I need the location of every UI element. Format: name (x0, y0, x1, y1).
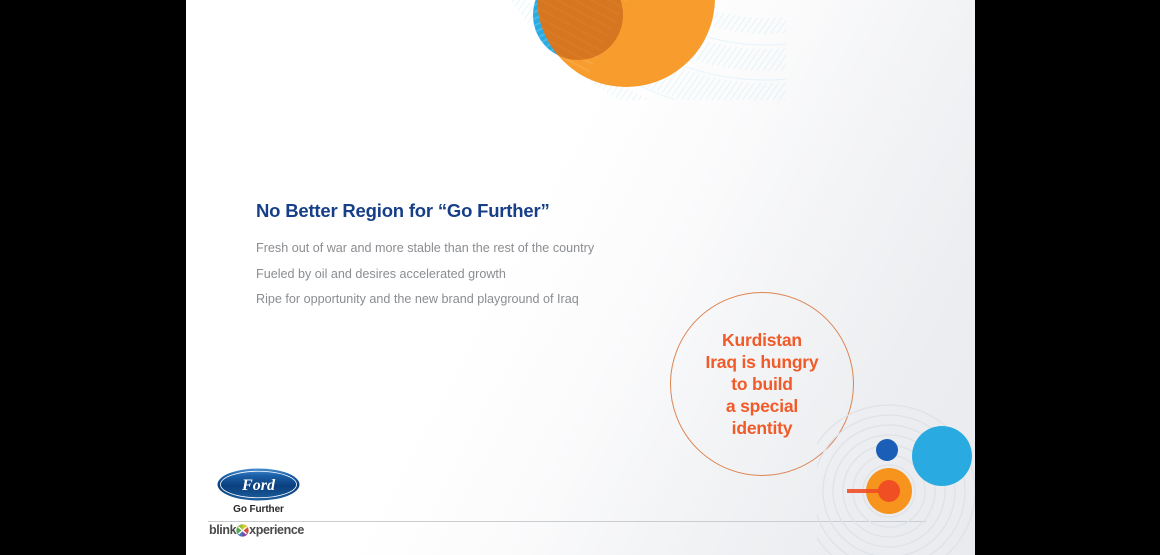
bullet-list: Fresh out of war and more stable than th… (256, 242, 716, 306)
agency-logo: blink xperience (209, 521, 304, 539)
callout-circle: Kurdistan Iraq is hungry to build a spec… (670, 292, 854, 476)
deco-circle-orange (537, 0, 715, 87)
screenshot-stage: No Better Region for “Go Further” Fresh … (0, 0, 1160, 555)
list-item: Ripe for opportunity and the new brand p… (256, 293, 716, 306)
deco-dot-cyan (912, 426, 972, 486)
agency-logo-mark (236, 524, 249, 537)
list-item: Fresh out of war and more stable than th… (256, 242, 716, 255)
ford-tagline: Go Further (217, 504, 300, 515)
list-item: Fueled by oil and desires accelerated gr… (256, 268, 716, 281)
decorative-circle-cluster-top (186, 0, 975, 110)
svg-text:Ford: Ford (241, 477, 276, 494)
deco-dot-red-orange (878, 480, 900, 502)
agency-logo-text-left: blink (209, 524, 236, 537)
page-title: No Better Region for “Go Further” (256, 200, 716, 222)
decorative-arc-pattern (366, 0, 786, 100)
slide-content: No Better Region for “Go Further” Fresh … (256, 200, 716, 319)
footer-divider (208, 521, 926, 522)
callout-text: Kurdistan Iraq is hungry to build a spec… (706, 329, 819, 439)
ford-oval-logo: Ford (217, 468, 300, 501)
ford-logo-lockup: Ford Go Further (217, 468, 377, 515)
presentation-slide: No Better Region for “Go Further” Fresh … (186, 0, 975, 555)
agency-logo-text-right: xperience (249, 524, 304, 537)
deco-circle-cyan (533, 0, 623, 60)
deco-dot-blue (876, 439, 898, 461)
deco-dot-orange (866, 468, 912, 514)
